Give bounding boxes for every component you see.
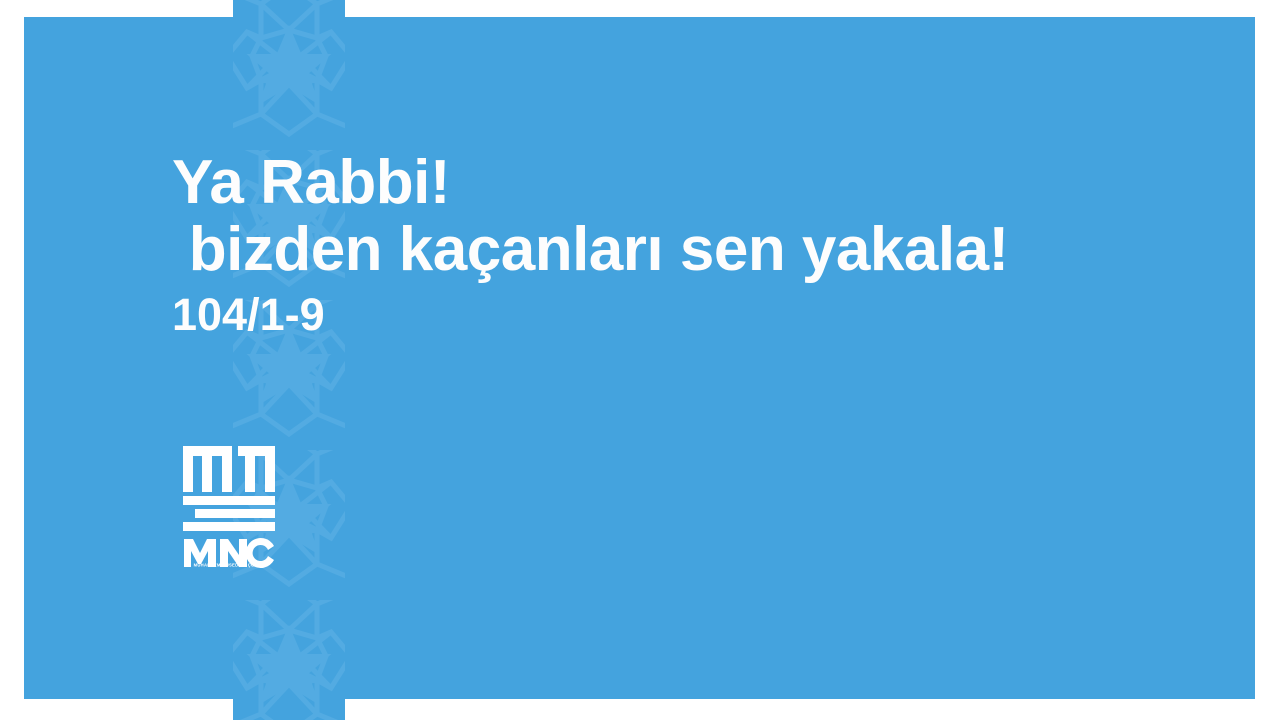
mnc-logo: MUHARREM MÜSEDDİN ÇOBAN xyxy=(181,440,277,568)
scripture-reference: 104/1-9 xyxy=(172,290,1172,340)
slide-background-panel xyxy=(24,17,1255,699)
mnc-tagline: MUHARREM MÜSEDDİN ÇOBAN xyxy=(194,563,265,568)
mnc-monogram-arches xyxy=(183,446,275,492)
mnc-monogram-bars xyxy=(183,496,275,531)
slide-headline: Ya Rabbi! bizden kaçanları sen yakala! xyxy=(172,150,1172,284)
headline-line-2: bizden kaçanları sen yakala! xyxy=(172,217,1172,284)
headline-line-1: Ya Rabbi! xyxy=(172,148,450,217)
slide-text-block: Ya Rabbi! bizden kaçanları sen yakala! 1… xyxy=(172,150,1172,339)
slide-canvas: Ya Rabbi! bizden kaçanları sen yakala! 1… xyxy=(0,0,1280,720)
islamic-geometric-star-pattern xyxy=(233,0,345,720)
